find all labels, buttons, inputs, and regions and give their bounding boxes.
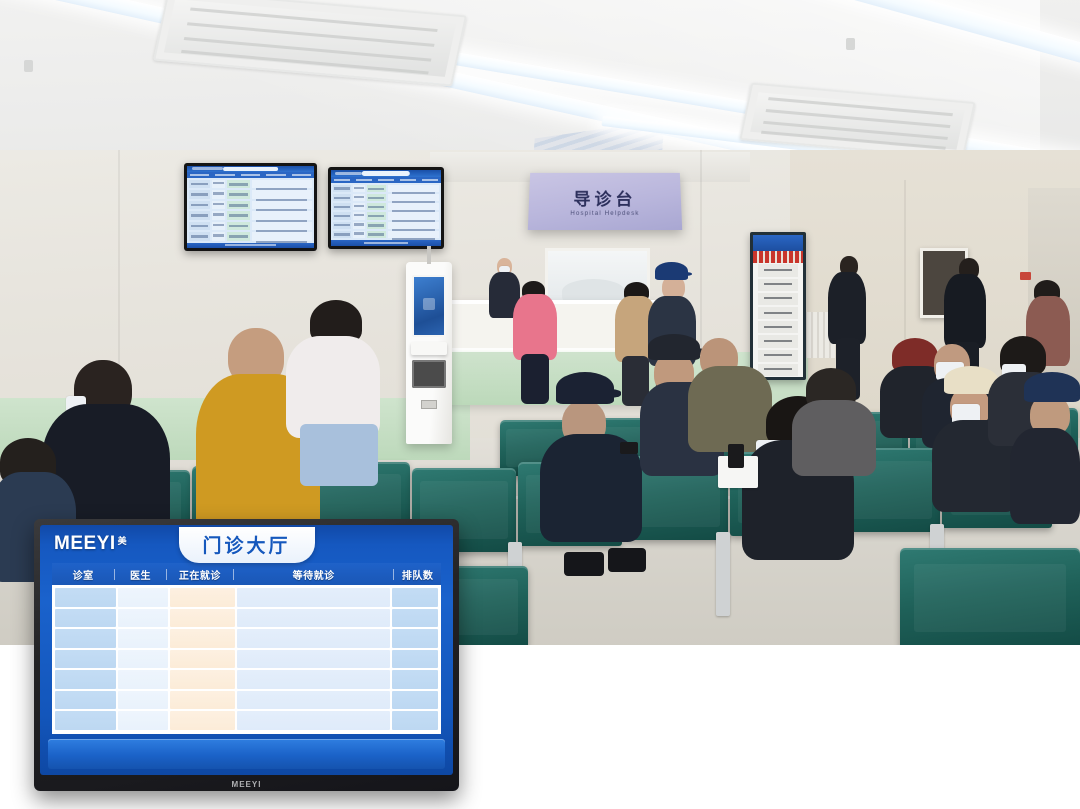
cell-current	[170, 691, 235, 710]
cell-room	[55, 609, 116, 628]
monitor-bezel: MEEYI 美 门诊大厅 诊室 医生 正在就诊 等待	[34, 519, 459, 791]
cell-waiting	[237, 650, 390, 669]
screenshot-root: 导诊台 Hospital Helpdesk	[0, 0, 1080, 809]
cell-waiting	[237, 609, 390, 628]
column-header-doctor: 医生	[115, 567, 166, 582]
table-row[interactable]	[55, 650, 438, 669]
meeyi-logo-text: MEEYI	[54, 533, 116, 555]
cell-waiting	[237, 711, 390, 730]
bezel-brandmark: MEEYI	[34, 780, 459, 789]
cell-doctor	[118, 609, 168, 628]
inset-signage-monitor: MEEYI 美 门诊大厅 诊室 医生 正在就诊 等待	[34, 519, 459, 791]
table-row[interactable]	[55, 588, 438, 607]
cell-doctor	[118, 629, 168, 648]
table-row[interactable]	[55, 670, 438, 689]
cell-room	[55, 691, 116, 710]
cell-room	[55, 711, 116, 730]
column-header-queue: 排队数	[394, 567, 441, 582]
signage-footer-bar	[48, 739, 445, 769]
cell-queue	[392, 588, 438, 607]
meeyi-logo-mark: 美	[118, 533, 128, 546]
table-row[interactable]	[55, 629, 438, 648]
cell-queue	[392, 650, 438, 669]
chair-leg	[716, 532, 730, 616]
cell-doctor	[118, 711, 168, 730]
table-row[interactable]	[55, 691, 438, 710]
table-row[interactable]	[55, 609, 438, 628]
table-row[interactable]	[55, 711, 438, 730]
cell-current	[170, 609, 235, 628]
cell-queue	[392, 609, 438, 628]
cell-waiting	[237, 588, 390, 607]
cell-queue	[392, 670, 438, 689]
cell-queue	[392, 629, 438, 648]
cell-doctor	[118, 650, 168, 669]
cell-doctor	[118, 670, 168, 689]
cell-current	[170, 629, 235, 648]
column-header-current: 正在就诊	[167, 567, 233, 582]
meeyi-logo: MEEYI 美	[54, 533, 127, 555]
cell-current	[170, 650, 235, 669]
cell-waiting	[237, 629, 390, 648]
cell-queue	[392, 691, 438, 710]
cell-room	[55, 650, 116, 669]
queue-table-body	[52, 585, 441, 734]
signage-title-pill: 门诊大厅	[179, 527, 315, 563]
cell-queue	[392, 711, 438, 730]
queue-table-header: 诊室 医生 正在就诊 等待就诊 排队数	[52, 563, 441, 585]
cell-doctor	[118, 691, 168, 710]
cell-doctor	[118, 588, 168, 607]
cell-current	[170, 711, 235, 730]
cell-waiting	[237, 670, 390, 689]
cell-waiting	[237, 691, 390, 710]
column-header-waiting: 等待就诊	[234, 567, 393, 582]
signage-screen: MEEYI 美 门诊大厅 诊室 医生 正在就诊 等待	[40, 525, 453, 775]
cell-current	[170, 588, 235, 607]
cell-current	[170, 670, 235, 689]
cell-room	[55, 629, 116, 648]
chair	[900, 548, 1080, 648]
queue-table: 诊室 医生 正在就诊 等待就诊 排队数	[52, 563, 441, 734]
column-header-room: 诊室	[52, 567, 114, 582]
signage-title: 门诊大厅	[202, 536, 290, 557]
signage-header: MEEYI 美 门诊大厅	[40, 525, 453, 563]
cell-room	[55, 670, 116, 689]
cell-room	[55, 588, 116, 607]
